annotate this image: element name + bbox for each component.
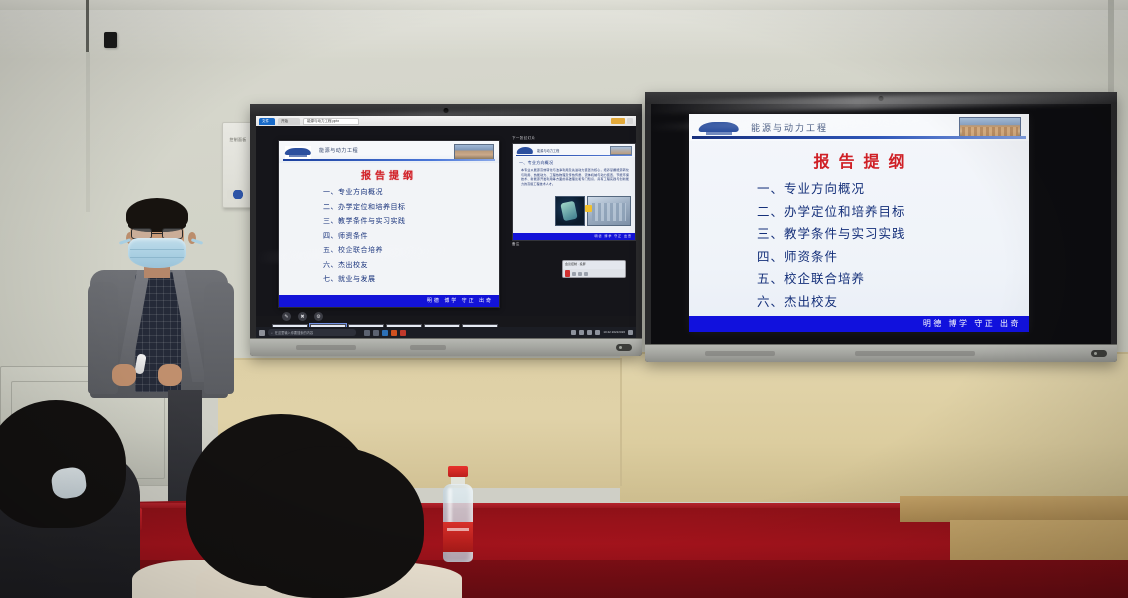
end-show-button[interactable] [611, 118, 625, 124]
pointer-cursor-icon [585, 205, 592, 212]
window-titlebar[interactable]: 文件 开始 能源与动力工程.pptx [256, 116, 636, 126]
water-bottle [441, 466, 475, 562]
outline-item: 六、杰出校友 [757, 291, 1005, 314]
taskbar-app-icons[interactable] [364, 330, 406, 336]
next-slide-header-title: 能源与动力工程 [537, 148, 559, 153]
slide-footer-motto: 明德 博学 守正 出奇 [923, 318, 1021, 329]
floating-toolbar-title: 会议控制 · 投屏 [563, 261, 625, 269]
ime-icon[interactable] [595, 330, 600, 335]
slide-header: 能源与动力工程 [279, 141, 499, 163]
slide-footer: 明德 博学 守正 出奇 [689, 316, 1029, 332]
outline-item: 五、校企联合培养 [323, 244, 489, 259]
bezel-top-left [250, 104, 642, 116]
speaker-grille [410, 345, 446, 350]
outline-item: 三、教学条件与实习实践 [323, 215, 489, 230]
presenter-hand-right [158, 364, 182, 386]
tab-active-document[interactable]: 能源与动力工程.pptx [303, 118, 359, 125]
search-input[interactable]: ⌕ 在这里输入你要搜索的内容 [268, 329, 356, 336]
bottle-label [443, 522, 473, 552]
task-view-icon[interactable] [364, 330, 370, 336]
notification-icon[interactable] [628, 330, 633, 335]
next-slide-thumbnail[interactable]: 能源与动力工程 一、专业方向概况 本专业以能源高效转化与洁净利用及先进动力装置为… [512, 143, 636, 241]
wood-floor-strip [900, 496, 1128, 522]
more-button-icon[interactable] [584, 272, 588, 276]
annotate-button-icon[interactable] [578, 272, 582, 276]
wall-corner-right [1108, 0, 1114, 100]
camera-icon [444, 108, 449, 113]
screen-panel-right[interactable]: 能源与动力工程 报告提纲 一、专业方向概况 二、办学定位和培养目标 三、教学条件… [651, 104, 1111, 344]
building-photo-icon [587, 196, 631, 226]
browser-icon[interactable] [382, 330, 388, 336]
outline-item: 六、杰出校友 [323, 259, 489, 274]
slide-header: 能源与动力工程 [689, 114, 1029, 141]
ceiling-band [0, 0, 1128, 10]
slide-header-title: 能源与动力工程 [319, 147, 358, 154]
outline-list: 一、专业方向概况 二、办学定位和培养目标 三、教学条件与实习实践 四、师资条件 … [757, 178, 1005, 332]
tab-file[interactable]: 文件 [259, 118, 275, 125]
settings-tool-icon[interactable]: ⚙ [314, 312, 323, 321]
slide-footer-motto: 明德 博学 守正 出奇 [427, 297, 493, 304]
outline-item: 二、办学定位和培养目标 [757, 201, 1005, 224]
campus-photo-thumb [610, 146, 632, 155]
wainscot-seam [620, 358, 622, 486]
campus-photo-thumb [454, 144, 494, 160]
face-mask [128, 238, 186, 268]
minimize-button[interactable] [627, 118, 633, 124]
power-button[interactable] [616, 344, 632, 351]
header-rule [283, 159, 495, 161]
bezel-bottom-left [250, 338, 642, 356]
presenter-speaker [86, 196, 236, 396]
presenter-toolbar[interactable]: ✎ ✖ ⚙ [282, 312, 323, 321]
floating-meeting-toolbar[interactable]: 会议控制 · 投屏 [562, 260, 626, 278]
slide-header-title: 能源与动力工程 [751, 121, 828, 134]
titlebar-controls[interactable] [611, 118, 633, 124]
bottle-cap [448, 466, 468, 477]
current-slide-preview[interactable]: 能源与动力工程 报告提纲 一、专业方向概况 二、办学定位和培养目标 三、教学条件… [278, 140, 500, 308]
record-button-icon[interactable] [565, 270, 570, 277]
outline-item: 一、专业方向概况 [323, 186, 489, 201]
next-slide-header: 能源与动力工程 [513, 144, 635, 157]
recorder-icon[interactable] [400, 330, 406, 336]
notes-label: 备注 [512, 242, 520, 247]
presenter-hand-left [112, 364, 136, 386]
system-tray[interactable]: 10:42 2021/3/26 [571, 330, 633, 335]
pointer-tool-icon[interactable]: ✖ [298, 312, 307, 321]
speaker-grille [705, 351, 775, 356]
next-slide-section-title: 一、专业方向概况 [519, 160, 553, 166]
next-slide-panel[interactable]: 下一张幻灯片 能源与动力工程 一、专业方向概况 本专业以能源高效转化与洁净利用及… [512, 136, 636, 241]
powerpoint-presenter-view[interactable]: 文件 开始 能源与动力工程.pptx 能源与动力工程 [256, 116, 636, 338]
next-slide-body-text: 本专业以能源高效转化与洁净利用及先进动力装置为核心，培养掌握能源转化与利用、热能… [521, 168, 629, 186]
outline-item: 一、专业方向概况 [757, 178, 1005, 201]
powerpoint-icon[interactable] [391, 330, 397, 336]
screen-panel-left[interactable]: 文件 开始 能源与动力工程.pptx 能源与动力工程 [256, 116, 636, 338]
next-slide-footer-motto: 明德 博学 守正 出奇 [594, 234, 632, 238]
bottle-neck [451, 476, 465, 485]
bezel-bottom-right [645, 344, 1117, 362]
slide-title: 报告提纲 [279, 167, 499, 182]
power-button[interactable] [1091, 350, 1107, 357]
school-logo-icon [699, 120, 739, 137]
start-button-icon[interactable] [259, 330, 265, 336]
slide-footer: 明德 博学 守正 出奇 [279, 295, 499, 307]
battery-icon[interactable] [587, 330, 592, 335]
wall-fixture-icon [104, 32, 117, 48]
floating-toolbar-buttons[interactable] [563, 269, 625, 278]
presentation-slide[interactable]: 能源与动力工程 报告提纲 一、专业方向概况 二、办学定位和培养目标 三、教学条件… [689, 114, 1029, 332]
wood-wainscot-right [620, 352, 1128, 502]
volume-icon[interactable] [579, 330, 584, 335]
outline-item: 四、师资条件 [323, 230, 489, 245]
audience-member-center-front [232, 446, 424, 598]
next-slide-footer: 明德 博学 守正 出奇 [513, 233, 635, 240]
lab-photo-icon [555, 196, 585, 226]
outline-item: 四、师资条件 [757, 246, 1005, 269]
camera-icon [879, 96, 884, 101]
network-icon[interactable] [571, 330, 576, 335]
speaker-grille [296, 345, 356, 350]
page-title: 报告提纲 [689, 148, 1029, 172]
interactive-display-left[interactable]: 文件 开始 能源与动力工程.pptx 能源与动力工程 [250, 104, 642, 356]
school-logo-icon [517, 147, 534, 154]
windows-taskbar[interactable]: ⌕ 在这里输入你要搜索的内容 [256, 327, 636, 338]
pen-tool-icon[interactable]: ✎ [282, 312, 291, 321]
outline-item: 三、教学条件与实习实践 [757, 223, 1005, 246]
outline-item: 五、校企联合培养 [757, 268, 1005, 291]
presenter-hair [126, 198, 188, 232]
outline-item: 七、就业与发展 [323, 273, 489, 288]
presenter-stage: 能源与动力工程 报告提纲 一、专业方向概况 二、办学定位和培养目标 三、教学条件… [256, 126, 636, 316]
bezel-top-right [645, 92, 1117, 104]
interactive-display-right[interactable]: 能源与动力工程 报告提纲 一、专业方向概况 二、办学定位和培养目标 三、教学条件… [645, 92, 1117, 362]
wall-seam-light [86, 52, 90, 212]
presenter-arm-right [204, 282, 234, 394]
header-rule [692, 136, 1026, 139]
wall-seam-dark [86, 0, 89, 52]
lecture-room-photo: 控制面板 文件 开始 能源与动力工程.pptx [0, 0, 1128, 598]
outline-item: 二、办学定位和培养目标 [323, 201, 489, 216]
control-panel-label: 控制面板 [226, 137, 250, 143]
speaker-grille [855, 351, 975, 356]
share-button-icon[interactable] [572, 272, 576, 276]
search-placeholder: 在这里输入你要搜索的内容 [275, 330, 313, 335]
next-slide-label: 下一张幻灯片 [512, 136, 636, 141]
clock[interactable]: 10:42 2021/3/26 [603, 331, 625, 334]
slide-outline-list: 一、专业方向概况 二、办学定位和培养目标 三、教学条件与实习实践 四、师资条件 … [323, 186, 489, 288]
tab-home[interactable]: 开始 [278, 118, 300, 125]
explorer-icon[interactable] [373, 330, 379, 336]
school-logo-icon [285, 146, 311, 159]
search-icon: ⌕ [271, 331, 273, 335]
